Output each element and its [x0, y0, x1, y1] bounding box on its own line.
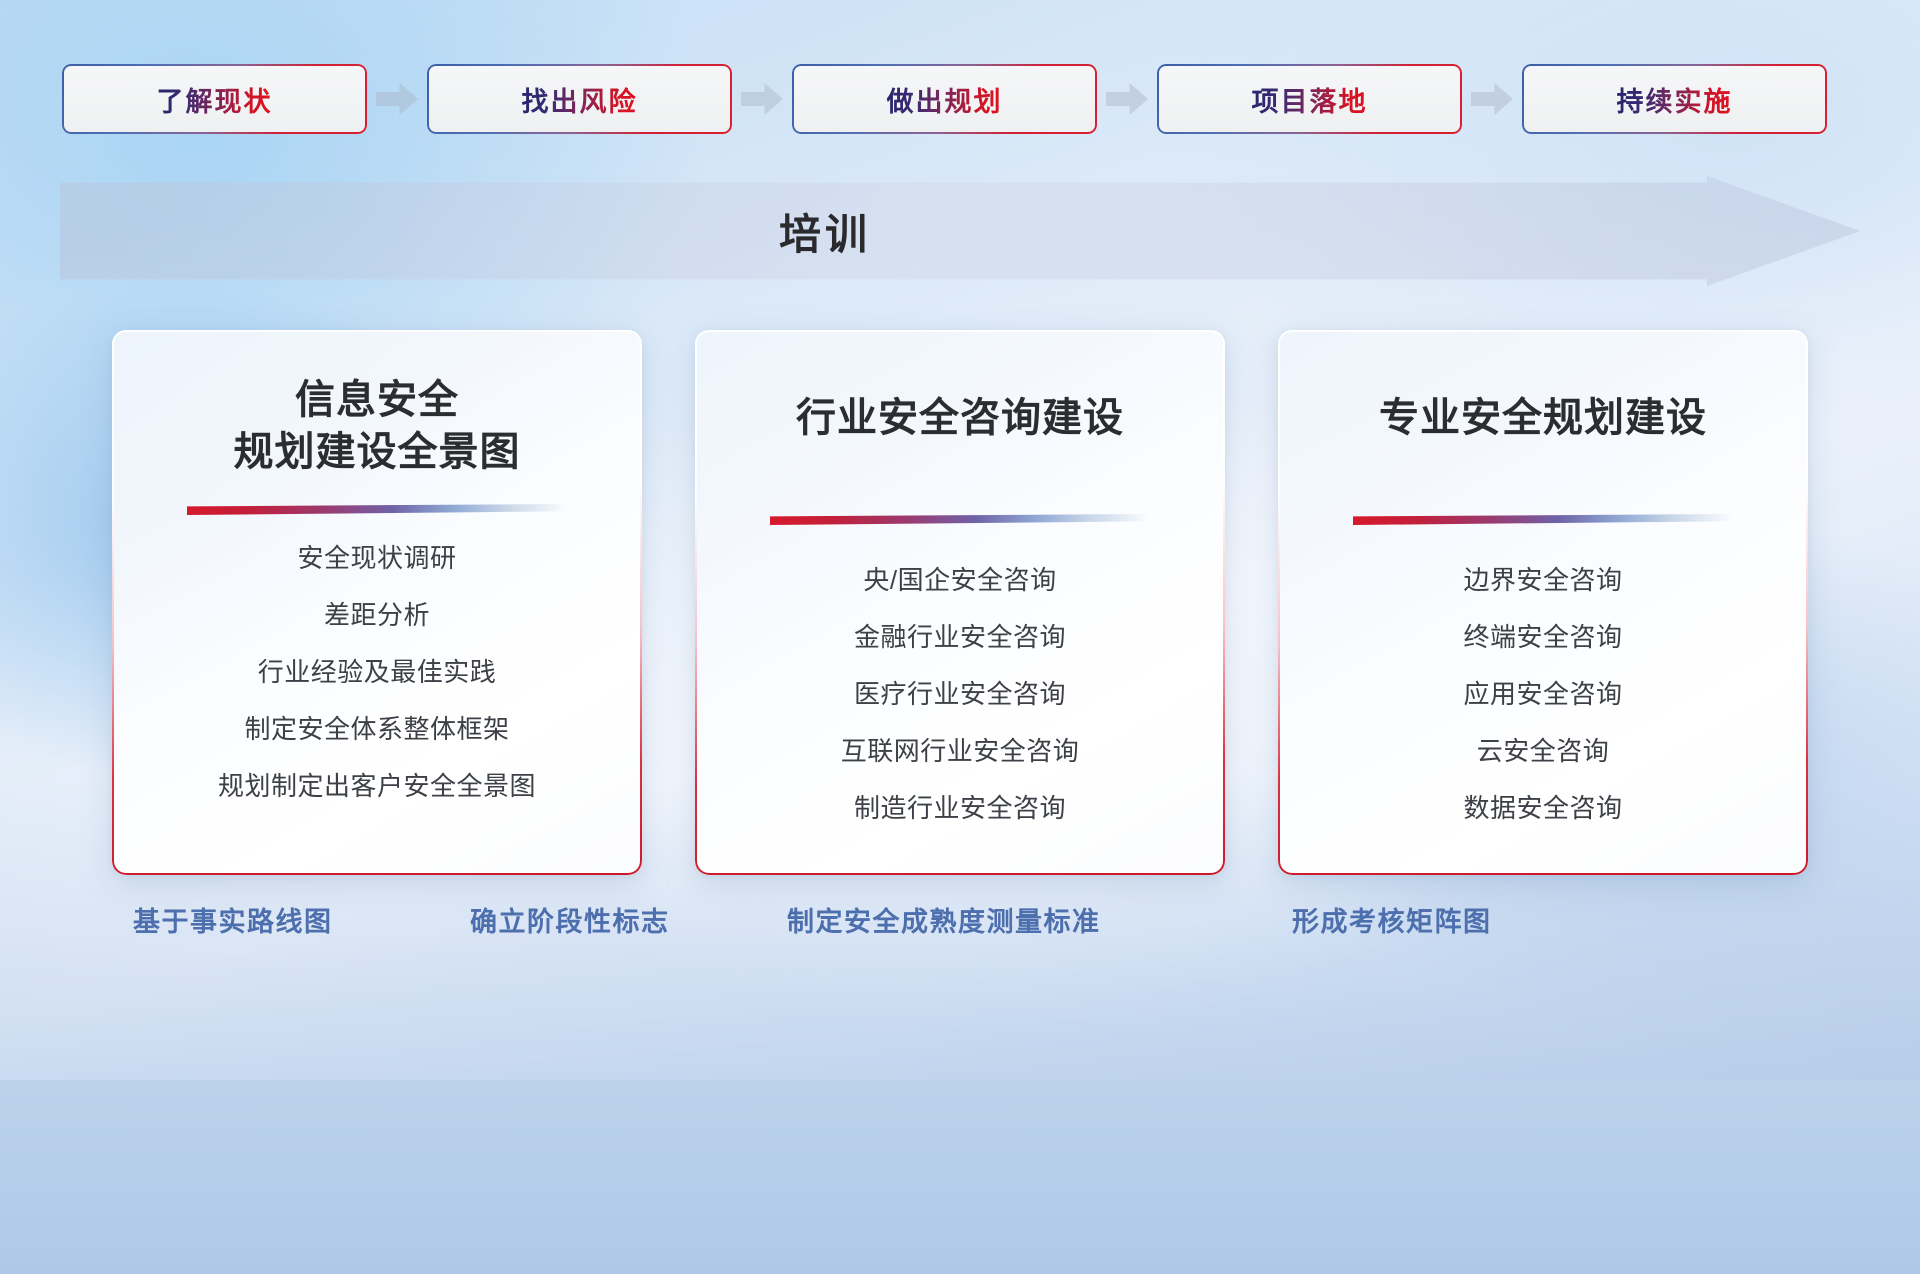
- card-2-title: 行业安全咨询建设: [695, 330, 1225, 444]
- training-banner-label: 培训: [60, 176, 1590, 286]
- card-1-divider: [187, 504, 567, 515]
- process-step-5[interactable]: 持续实施: [1522, 64, 1827, 134]
- footnote-maturity: 制定安全成熟度测量标准: [787, 900, 1101, 939]
- process-step-4-label: 项目落地: [1252, 80, 1368, 119]
- list-item: 制定安全体系整体框架: [244, 716, 509, 742]
- process-step-5-label: 持续实施: [1617, 80, 1733, 119]
- list-item: 医疗行业安全咨询: [854, 681, 1066, 707]
- card-3-divider: [1353, 514, 1733, 525]
- card-1-title: 信息安全 规划建设全景图: [112, 330, 642, 478]
- list-item: 金融行业安全咨询: [854, 624, 1066, 650]
- card-3-title: 专业安全规划建设: [1278, 330, 1808, 444]
- process-step-3-label: 做出规划: [887, 80, 1003, 119]
- list-item: 互联网行业安全咨询: [841, 738, 1080, 764]
- card-3-list: 边界安全咨询 终端安全咨询 应用安全咨询 云安全咨询 数据安全咨询: [1278, 525, 1808, 875]
- list-item: 差距分析: [324, 602, 430, 628]
- training-banner: 培训: [60, 176, 1860, 286]
- process-flow: 了解现状 找出风险 做出规划 项目落地 持续实施: [62, 60, 1862, 138]
- card-2-list: 央/国企安全咨询 金融行业安全咨询 医疗行业安全咨询 互联网行业安全咨询 制造行…: [695, 525, 1225, 875]
- list-item: 央/国企安全咨询: [863, 567, 1056, 593]
- card-industry-security-consulting[interactable]: 行业安全咨询建设 央/国企安全咨询 金融行业安全咨询 医疗行业安全咨询 互联网行…: [695, 330, 1225, 875]
- process-step-2-label: 找出风险: [522, 80, 638, 119]
- footnote-matrix: 形成考核矩阵图: [1292, 900, 1492, 939]
- list-item: 安全现状调研: [297, 545, 456, 571]
- list-item: 边界安全咨询: [1463, 567, 1622, 593]
- card-2-divider: [770, 514, 1150, 525]
- process-step-3[interactable]: 做出规划: [792, 64, 1097, 134]
- process-step-2[interactable]: 找出风险: [427, 64, 732, 134]
- list-item: 终端安全咨询: [1463, 624, 1622, 650]
- card-1-list: 安全现状调研 差距分析 行业经验及最佳实践 制定安全体系整体框架 规划制定出客户…: [112, 515, 642, 875]
- list-item: 云安全咨询: [1477, 738, 1610, 764]
- card-professional-security-planning[interactable]: 专业安全规划建设 边界安全咨询 终端安全咨询 应用安全咨询 云安全咨询 数据安全…: [1278, 330, 1808, 875]
- process-arrow-4-icon: [1462, 79, 1522, 119]
- footnote-milestone: 确立阶段性标志: [470, 900, 670, 939]
- footnote-group: 基于事实路线图 确立阶段性标志 制定安全成熟度测量标准 形成考核矩阵图: [0, 900, 1920, 960]
- process-step-4[interactable]: 项目落地: [1157, 64, 1462, 134]
- process-step-1-label: 了解现状: [157, 80, 273, 119]
- footnote-roadmap: 基于事实路线图: [133, 900, 333, 939]
- list-item: 应用安全咨询: [1463, 681, 1622, 707]
- process-arrow-1-icon: [367, 79, 427, 119]
- process-step-1[interactable]: 了解现状: [62, 64, 367, 134]
- list-item: 规划制定出客户安全全景图: [218, 773, 536, 799]
- list-item: 制造行业安全咨询: [854, 795, 1066, 821]
- list-item: 数据安全咨询: [1463, 795, 1622, 821]
- process-arrow-3-icon: [1097, 79, 1157, 119]
- card-information-security-panorama[interactable]: 信息安全 规划建设全景图 安全现状调研 差距分析 行业经验及最佳实践 制定安全体…: [112, 330, 642, 875]
- card-group: 信息安全 规划建设全景图 安全现状调研 差距分析 行业经验及最佳实践 制定安全体…: [0, 330, 1920, 875]
- process-arrow-2-icon: [732, 79, 792, 119]
- list-item: 行业经验及最佳实践: [258, 659, 497, 685]
